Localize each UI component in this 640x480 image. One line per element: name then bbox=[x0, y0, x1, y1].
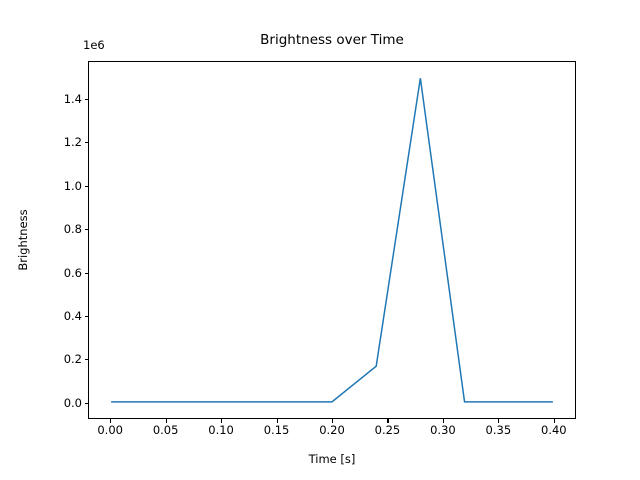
y-axis-tick-label: 0.4 bbox=[64, 310, 82, 322]
x-axis-tick-label: 0.25 bbox=[375, 424, 401, 437]
x-axis-tick-marks bbox=[88, 419, 576, 423]
x-axis-tick-mark bbox=[332, 419, 333, 423]
x-axis-tick-label: 0.15 bbox=[264, 424, 290, 437]
y-axis-tick-label: 0.2 bbox=[64, 353, 82, 365]
page-title: Brightness over Time bbox=[88, 32, 576, 48]
x-axis-tick-mark bbox=[277, 419, 278, 423]
x-axis-tick-mark bbox=[166, 419, 167, 423]
x-axis-tick-labels: 0.000.050.100.150.200.250.300.350.40 bbox=[88, 424, 576, 440]
x-axis-tick-label: 0.05 bbox=[153, 424, 179, 437]
x-axis-label: Time [s] bbox=[88, 452, 576, 466]
x-axis-tick-mark bbox=[221, 419, 222, 423]
y-axis-offset-label: 1e6 bbox=[83, 38, 105, 52]
y-axis-tick-label: 1.2 bbox=[64, 136, 82, 148]
x-axis-tick-mark bbox=[443, 419, 444, 423]
y-axis-tick-labels: 0.00.20.40.60.81.01.21.4 bbox=[38, 61, 82, 419]
x-axis-tick-label: 0.40 bbox=[541, 424, 567, 437]
plot-svg bbox=[89, 62, 575, 418]
x-axis-tick-mark bbox=[554, 419, 555, 423]
x-axis-tick-mark bbox=[387, 419, 388, 423]
x-axis-tick-mark bbox=[498, 419, 499, 423]
x-axis-tick-label: 0.20 bbox=[319, 424, 345, 437]
y-axis-tick-label: 0.6 bbox=[64, 267, 82, 279]
x-axis-tick-label: 0.10 bbox=[208, 424, 234, 437]
x-axis-tick-label: 0.00 bbox=[97, 424, 123, 437]
y-axis-tick-label: 0.0 bbox=[64, 397, 82, 409]
x-axis-tick-label: 0.30 bbox=[430, 424, 456, 437]
y-axis-tick-label: 1.0 bbox=[64, 180, 82, 192]
x-axis-tick-label: 0.35 bbox=[486, 424, 512, 437]
data-series-line bbox=[111, 78, 553, 402]
y-axis-tick-label: 0.8 bbox=[64, 223, 82, 235]
y-axis-label: Brightness bbox=[12, 61, 34, 419]
plot-area bbox=[88, 61, 576, 419]
x-axis-tick-mark bbox=[110, 419, 111, 423]
chart-figure: Brightness over Time 1e6 0.00.20.40.60.8… bbox=[0, 0, 640, 480]
y-axis-tick-label: 1.4 bbox=[64, 93, 82, 105]
